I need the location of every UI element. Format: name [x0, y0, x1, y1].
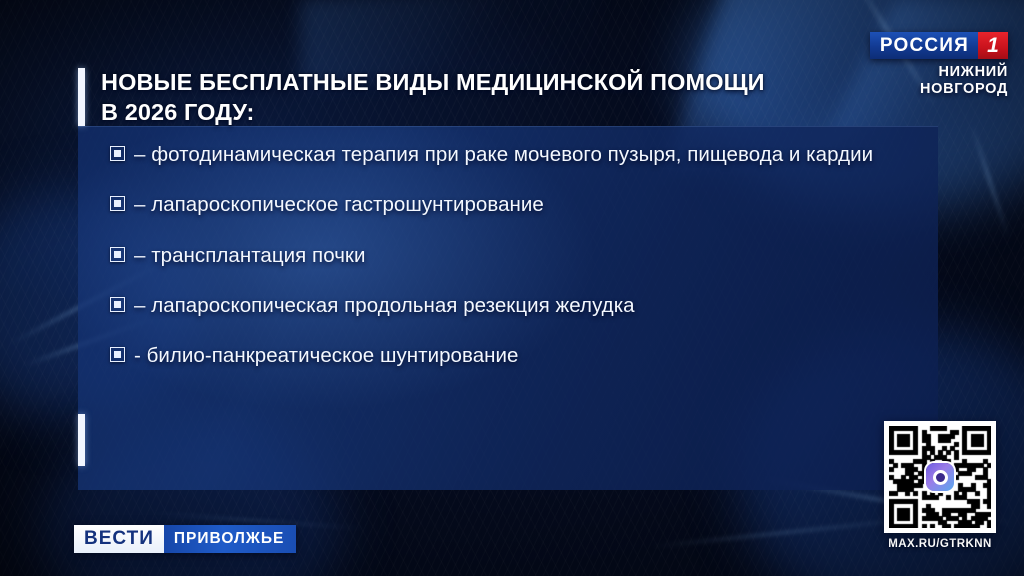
channel-number: 1 [978, 32, 1008, 59]
list-item-label: - билио-панкреатическое шунтирование [134, 342, 518, 369]
footer-accent-bar [78, 414, 85, 466]
list-item-label: – фотодинамическая терапия при раке моче… [134, 141, 873, 168]
headline-block: НОВЫЕ БЕСПЛАТНЫЕ ВИДЫ МЕДИЦИНСКОЙ ПОМОЩИ… [78, 68, 765, 127]
list-item-label: – лапароскопическая продольная резекция … [134, 292, 635, 319]
list-item: – фотодинамическая терапия при раке моче… [110, 141, 910, 168]
channel-logo-row: РОССИЯ 1 [870, 32, 1008, 59]
headline-accent-bar [78, 68, 85, 126]
max-messenger-logo-icon [926, 463, 954, 491]
list-item: – лапароскопическое гастрошунтирование [110, 191, 910, 218]
program-bug: ВЕСТИ ПРИВОЛЖЬЕ [74, 525, 296, 553]
qr-code[interactable] [884, 421, 996, 533]
channel-logo: РОССИЯ 1 НИЖНИЙ НОВГОРОД [870, 32, 1008, 98]
nested-square-bullet-icon [110, 297, 125, 312]
list-item: – лапароскопическая продольная резекция … [110, 292, 910, 319]
list-item-label: – лапароскопическое гастрошунтирование [134, 191, 544, 218]
channel-name: РОССИЯ [870, 32, 978, 59]
nested-square-bullet-icon [110, 196, 125, 211]
page-title: НОВЫЕ БЕСПЛАТНЫЕ ВИДЫ МЕДИЦИНСКОЙ ПОМОЩИ… [101, 68, 765, 127]
benefit-list: – фотодинамическая терапия при раке моче… [110, 141, 910, 369]
program-title: ВЕСТИ [74, 525, 164, 553]
broadcast-screen: НОВЫЕ БЕСПЛАТНЫЕ ВИДЫ МЕДИЦИНСКОЙ ПОМОЩИ… [0, 0, 1024, 576]
qr-url-label: MAX.RU/GTRKNN [884, 538, 996, 550]
qr-block[interactable]: MAX.RU/GTRKNN [884, 421, 996, 550]
list-item-label: – трансплантация почки [134, 242, 365, 269]
nested-square-bullet-icon [110, 347, 125, 362]
list-item: – трансплантация почки [110, 242, 910, 269]
nested-square-bullet-icon [110, 146, 125, 161]
list-item: - билио-панкреатическое шунтирование [110, 342, 910, 369]
channel-region-label: НИЖНИЙ НОВГОРОД [870, 64, 1008, 98]
program-region: ПРИВОЛЖЬЕ [164, 525, 296, 553]
nested-square-bullet-icon [110, 247, 125, 262]
